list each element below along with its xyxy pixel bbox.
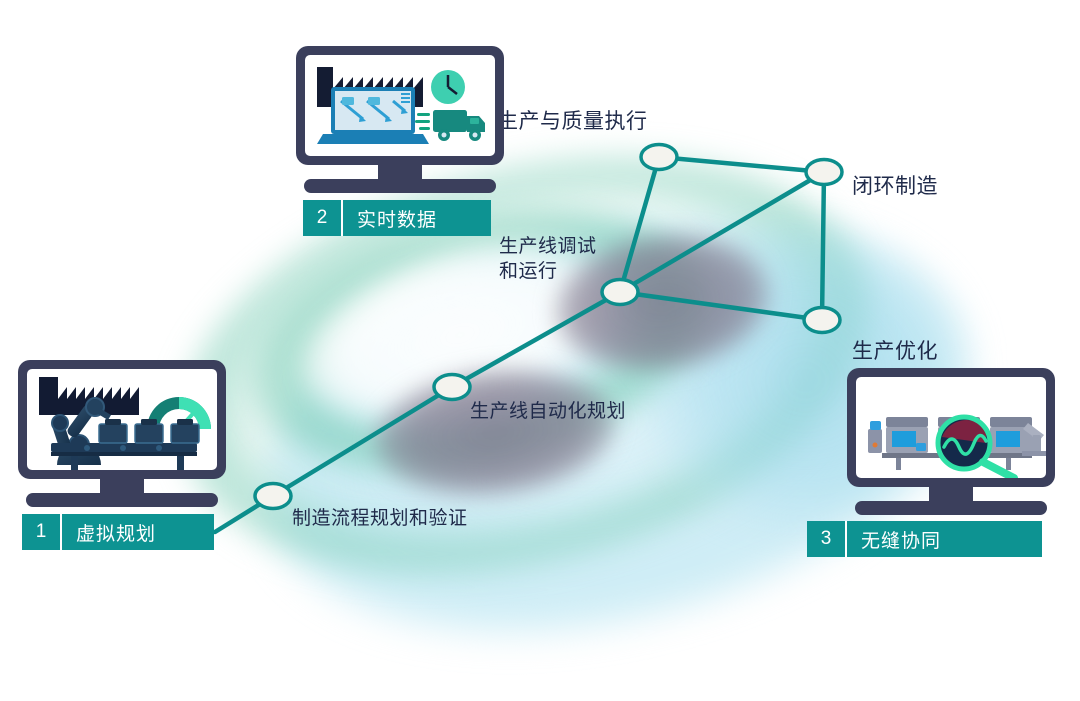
- production-line-magnifier-icon: [856, 377, 1046, 478]
- infographic-canvas: 生产与质量执行 闭环制造 生产优化 生产线调试 和运行 生产线自动化规划 制造流…: [0, 0, 1080, 610]
- network-node[interactable]: [602, 280, 638, 305]
- monitor-base: [304, 179, 496, 193]
- monitor-screen: [305, 55, 495, 156]
- monitor-neck: [378, 165, 422, 179]
- label-line-automation-planning: 生产线自动化规划: [470, 399, 626, 424]
- laptop-factory-truck-clock-icon: [305, 55, 495, 156]
- network-edge: [659, 157, 824, 172]
- monitor-frame: [847, 368, 1055, 487]
- label-closed-loop-manufacturing: 闭环制造: [852, 170, 938, 200]
- network-node[interactable]: [806, 160, 842, 185]
- badge-number: 2: [303, 200, 343, 236]
- monitor-frame: [18, 360, 226, 479]
- network-node[interactable]: [804, 308, 840, 333]
- realtime-data-monitor: [296, 46, 504, 191]
- seamless-collaboration-monitor: [847, 368, 1055, 513]
- monitor-screen: [27, 369, 217, 470]
- badge-number: 1: [22, 514, 62, 550]
- label-production-optimization: 生产优化: [852, 335, 938, 365]
- network-node[interactable]: [255, 484, 291, 509]
- monitor-neck: [929, 487, 973, 501]
- badge-label: 虚拟规划: [62, 514, 172, 550]
- label-process-planning-validation: 制造流程规划和验证: [292, 506, 468, 531]
- label-production-quality-execution: 生产与质量执行: [497, 105, 648, 135]
- network-edge: [620, 292, 822, 320]
- badge-seamless-collaboration[interactable]: 3 无缝协同: [807, 521, 1042, 557]
- network-edge: [452, 292, 620, 387]
- monitor-frame: [296, 46, 504, 165]
- network-node[interactable]: [641, 145, 677, 170]
- monitor-screen: [856, 377, 1046, 478]
- network-edge: [822, 172, 824, 320]
- badge-virtual-planning[interactable]: 1 虚拟规划: [22, 514, 214, 550]
- monitor-base: [855, 501, 1047, 515]
- badge-label: 无缝协同: [847, 521, 957, 557]
- badge-realtime-data[interactable]: 2 实时数据: [303, 200, 491, 236]
- network-edge: [273, 387, 452, 496]
- label-line-commissioning-operation: 生产线调试 和运行: [499, 234, 597, 284]
- monitor-neck: [100, 479, 144, 493]
- badge-label: 实时数据: [343, 200, 453, 236]
- virtual-planning-monitor: [18, 360, 226, 505]
- badge-number: 3: [807, 521, 847, 557]
- monitor-base: [26, 493, 218, 507]
- robot-arm-conveyor-gauge-icon: [27, 369, 217, 470]
- network-node[interactable]: [434, 375, 470, 400]
